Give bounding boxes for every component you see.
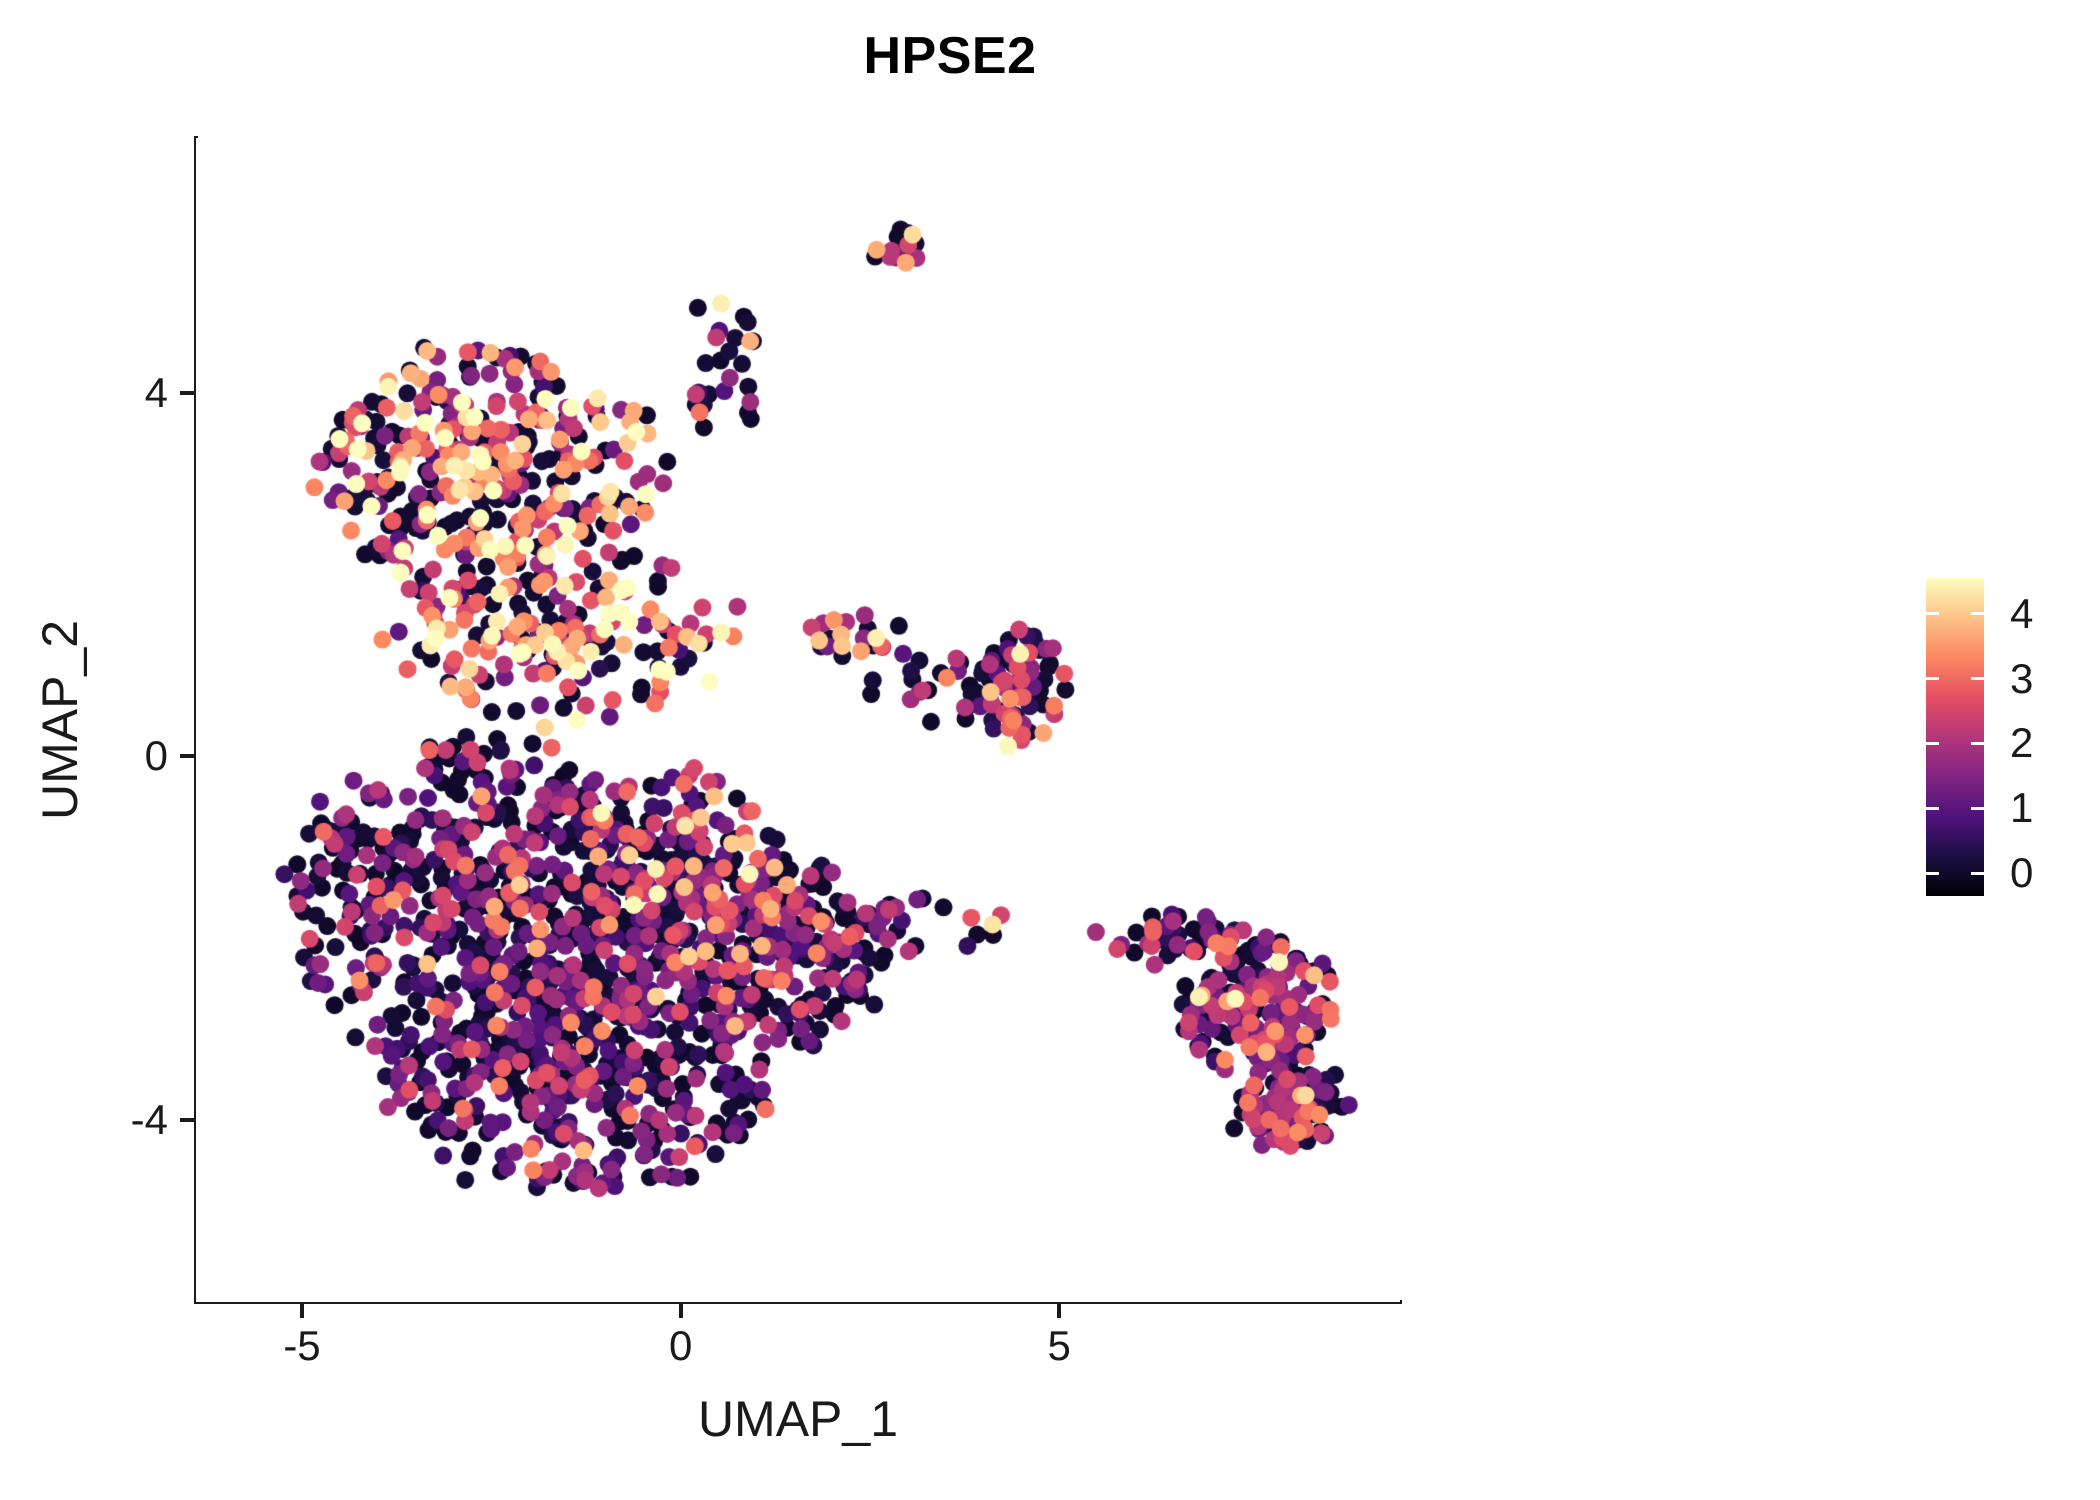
legend-tick-label: 1 — [2010, 784, 2033, 832]
legend-tick-label: 2 — [2010, 719, 2033, 767]
legend-tick-mark — [1971, 612, 1984, 615]
x-tick-mark — [679, 1304, 683, 1318]
x-tick-label: -5 — [283, 1322, 320, 1370]
y-axis-title: UMAP_2 — [31, 620, 89, 820]
y-tick-mark — [180, 391, 194, 395]
legend-tick-mark — [1926, 807, 1939, 810]
color-legend — [1926, 578, 1984, 896]
y-tick-mark — [180, 1118, 194, 1122]
legend-tick-mark — [1926, 742, 1939, 745]
x-tick-mark — [1057, 1304, 1061, 1318]
x-axis-title: UMAP_1 — [196, 1390, 1400, 1448]
y-tick-label: -4 — [0, 1096, 168, 1144]
x-tick-label: 5 — [1048, 1322, 1071, 1370]
legend-tick-label: 0 — [2010, 849, 2033, 897]
legend-tick-mark — [1926, 677, 1939, 680]
y-tick-label: 4 — [0, 369, 168, 417]
legend-tick-mark — [1926, 872, 1939, 875]
y-tick-mark — [180, 754, 194, 758]
page-title: HPSE2 — [0, 26, 1900, 86]
umap-feature-plot: HPSE2 40-4 -505 UMAP_2 UMAP_1 43210 — [0, 0, 2100, 1500]
plot-panel — [196, 138, 1400, 1302]
x-tick-label: 0 — [669, 1322, 692, 1370]
legend-tick-mark — [1971, 677, 1984, 680]
legend-tick-label: 4 — [2010, 590, 2033, 638]
legend-colorbar — [1926, 578, 1984, 896]
legend-tick-mark — [1926, 612, 1939, 615]
scatter-points-canvas — [196, 138, 1400, 1302]
legend-tick-mark — [1971, 872, 1984, 875]
legend-tick-mark — [1971, 807, 1984, 810]
legend-tick-mark — [1971, 742, 1984, 745]
legend-tick-label: 3 — [2010, 655, 2033, 703]
x-tick-mark — [300, 1304, 304, 1318]
